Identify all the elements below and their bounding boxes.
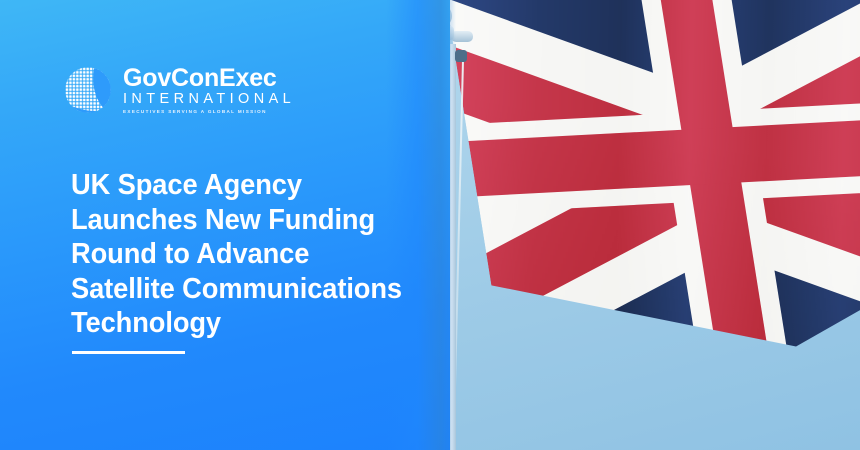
logo-tagline: EXECUTIVES SERVING A GLOBAL MISSION (123, 108, 295, 116)
globe-icon (62, 64, 114, 116)
article-banner: GovConExec INTERNATIONAL EXECUTIVES SERV… (0, 0, 860, 450)
logo-text-block: GovConExec INTERNATIONAL EXECUTIVES SERV… (123, 65, 295, 116)
headline: UK Space Agency Launches New Funding Rou… (71, 168, 409, 341)
logo-subtitle: INTERNATIONAL (123, 91, 295, 108)
banner-content: GovConExec INTERNATIONAL EXECUTIVES SERV… (0, 0, 450, 450)
headline-divider (72, 351, 185, 354)
logo-wordmark: GovConExec (123, 65, 295, 91)
union-jack-flag (442, 0, 860, 396)
flagpole-clip (455, 50, 467, 62)
govconexec-logo[interactable]: GovConExec INTERNATIONAL EXECUTIVES SERV… (62, 64, 295, 116)
